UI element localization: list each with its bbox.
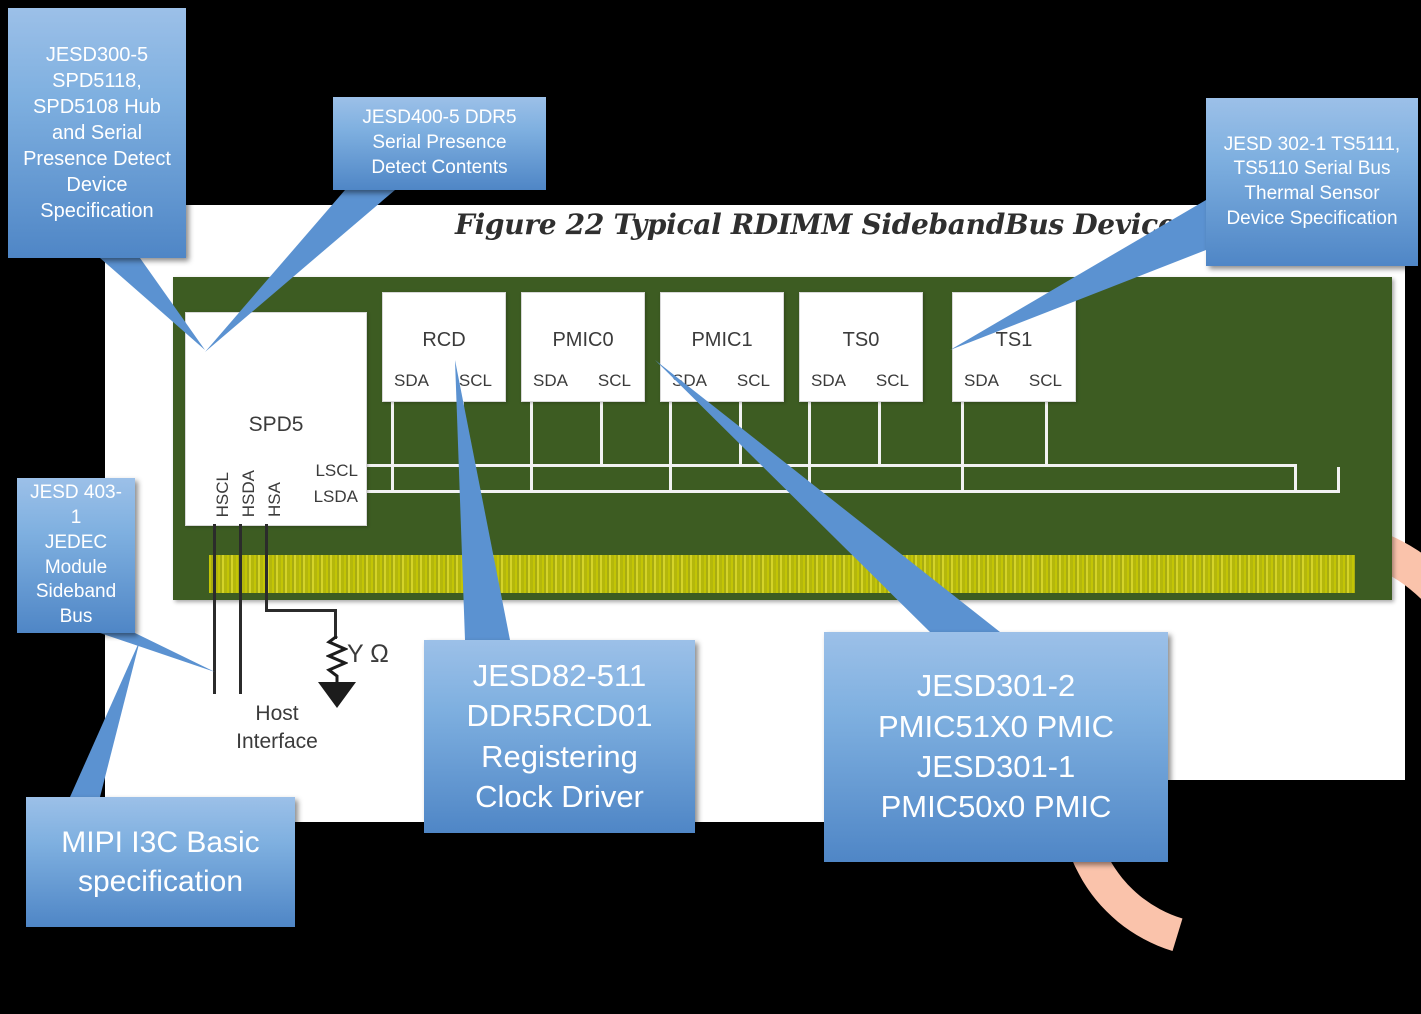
callout-line: Thermal Sensor — [1224, 182, 1400, 207]
host-interface-label: Host Interface — [222, 700, 332, 757]
callout-line: and Serial — [23, 120, 171, 146]
chip-pmic0[interactable]: PMIC0 SDA SCL — [521, 292, 645, 402]
chip-ts1[interactable]: TS1 SDA SCL — [952, 292, 1076, 402]
callout-line: Detect Contents — [362, 156, 516, 181]
host-interface-label-line1: Host — [255, 702, 298, 725]
callout-line: Module — [25, 556, 127, 581]
chip-pmic1-pin-sda: SDA — [672, 371, 707, 391]
callout-spd-contents-spec[interactable]: JESD400-5 DDR5 Serial Presence Detect Co… — [333, 97, 546, 190]
host-interface-label-line2: Interface — [236, 730, 318, 753]
chip-pmic0-pin-scl: SCL — [598, 371, 631, 391]
callout-line: Bus — [25, 605, 127, 630]
callout-line: Specification — [23, 198, 171, 224]
pin-hsa: HSA — [265, 482, 285, 517]
callout-spd-hub-spec[interactable]: JESD300-5 SPD5118, SPD5108 Hub and Seria… — [8, 8, 186, 258]
chip-rcd-label: RCD — [383, 329, 505, 352]
callout-line: MIPI I3C Basic — [61, 823, 259, 862]
callout-line: Clock Driver — [466, 777, 652, 817]
callout-line: JESD300-5 — [23, 42, 171, 68]
chip-spd5-label: SPD5 — [186, 413, 366, 437]
chip-rcd[interactable]: RCD SDA SCL — [382, 292, 506, 402]
callout-line: JESD 302-1 TS5111, — [1224, 133, 1400, 158]
pin-lsda: LSDA — [314, 487, 358, 507]
callout-line: DDR5RCD01 — [466, 696, 652, 736]
slide-canvas: Figure 22 Typical RDIMM SidebandBus Devi… — [0, 0, 1421, 941]
callout-line: JESD 403-1 — [25, 481, 127, 530]
chip-ts0-pin-scl: SCL — [876, 371, 909, 391]
chip-ts1-label: TS1 — [953, 329, 1075, 352]
host-wire-hscl — [213, 524, 216, 694]
callout-line: JESD301-2 — [878, 666, 1114, 706]
host-wire-hsda — [239, 524, 242, 694]
pin-lscl: LSCL — [315, 461, 358, 481]
pin-hsda: HSDA — [239, 470, 259, 517]
chip-ts1-pin-sda: SDA — [964, 371, 999, 391]
callout-line: JESD400-5 DDR5 — [362, 106, 516, 131]
chip-ts1-pin-scl: SCL — [1029, 371, 1062, 391]
chip-pmic1-pin-scl: SCL — [737, 371, 770, 391]
chip-pmic1-label: PMIC1 — [661, 329, 783, 352]
callout-line: Presence Detect — [23, 146, 171, 172]
host-wire-hsa-jog-v — [334, 609, 337, 639]
callout-line: Registering — [466, 737, 652, 777]
host-wire-hsa-jog-h — [265, 609, 337, 612]
callout-mipi-spec[interactable]: MIPI I3C Basic specification — [26, 797, 295, 927]
callout-line: Sideband — [25, 580, 127, 605]
chip-ts0-pin-sda: SDA — [811, 371, 846, 391]
callout-pmic-spec[interactable]: JESD301-2 PMIC51X0 PMIC JESD301-1 PMIC50… — [824, 632, 1168, 862]
callout-line: PMIC51X0 PMIC — [878, 707, 1114, 747]
figure-title: Figure 22 Typical RDIMM SidebandBus Devi… — [455, 208, 1115, 241]
chip-ts0[interactable]: TS0 SDA SCL — [799, 292, 923, 402]
gold-finger-contacts — [209, 555, 1355, 593]
resistor-icon — [326, 636, 348, 682]
trace-bus-right-riser-b — [1337, 467, 1340, 493]
callout-sideband-bus-spec[interactable]: JESD 403-1 JEDEC Module Sideband Bus — [17, 478, 135, 633]
callout-line: JEDEC — [25, 531, 127, 556]
callout-line: specification — [61, 862, 259, 901]
chip-pmic1[interactable]: PMIC1 SDA SCL — [660, 292, 784, 402]
callout-line: JESD301-1 — [878, 747, 1114, 787]
trace-bus-right-riser-a — [1294, 464, 1297, 492]
host-wire-hsa — [265, 524, 268, 609]
callout-thermal-sensor-spec[interactable]: JESD 302-1 TS5111, TS5110 Serial Bus The… — [1206, 98, 1418, 266]
callout-line: TS5110 Serial Bus — [1224, 157, 1400, 182]
callout-line: Device — [23, 172, 171, 198]
callout-line: SPD5118, — [23, 68, 171, 94]
resistor-value-label: Y Ω — [347, 640, 389, 669]
chip-pmic0-label: PMIC0 — [522, 329, 644, 352]
callout-rcd-spec[interactable]: JESD82-511 DDR5RCD01 Registering Clock D… — [424, 640, 695, 833]
callout-line: PMIC50x0 PMIC — [878, 787, 1114, 827]
callout-line: JESD82-511 — [466, 656, 652, 696]
pin-hscl: HSCL — [213, 472, 233, 517]
callout-line: Serial Presence — [362, 131, 516, 156]
chip-rcd-pin-scl: SCL — [459, 371, 492, 391]
chip-rcd-pin-sda: SDA — [394, 371, 429, 391]
chip-ts0-label: TS0 — [800, 329, 922, 352]
chip-pmic0-pin-sda: SDA — [533, 371, 568, 391]
callout-line: SPD5108 Hub — [23, 94, 171, 120]
chip-spd5[interactable]: SPD5 HSCL HSDA HSA LSCL LSDA — [185, 312, 367, 526]
callout-line: Device Specification — [1224, 207, 1400, 232]
